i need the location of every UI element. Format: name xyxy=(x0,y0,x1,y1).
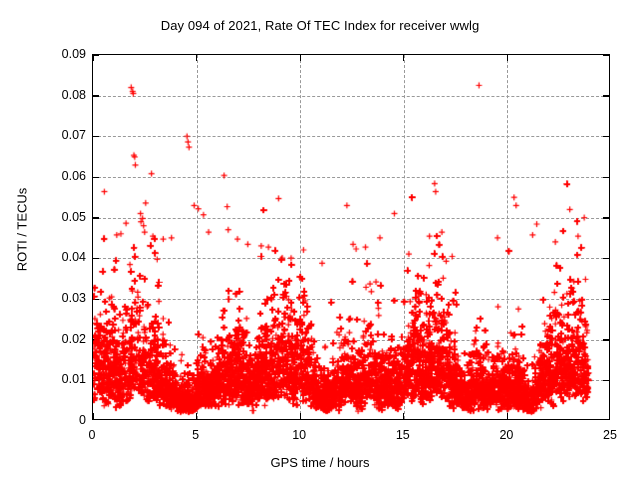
y-axis-tick-labels: 00.010.020.030.040.050.060.070.080.09 xyxy=(0,0,86,480)
y-axis-tick-label: 0.01 xyxy=(62,372,86,386)
y-axis-tick-label: 0.09 xyxy=(62,47,86,61)
x-axis-tick-label: 20 xyxy=(499,428,513,442)
x-axis-tick-label: 10 xyxy=(292,428,306,442)
page-title: Day 094 of 2021, Rate Of TEC Index for r… xyxy=(0,18,640,33)
y-axis-tick-label: 0 xyxy=(79,413,86,427)
chart-page: Day 094 of 2021, Rate Of TEC Index for r… xyxy=(0,0,640,480)
x-axis-tick-labels: 0510152025 xyxy=(0,428,640,448)
x-axis-tick-label: 15 xyxy=(396,428,410,442)
y-axis-tick-label: 0.04 xyxy=(62,250,86,264)
scatter-data-points xyxy=(93,55,609,419)
x-axis-tick-label: 0 xyxy=(89,428,96,442)
y-axis-tick-label: 0.02 xyxy=(62,332,86,346)
x-axis-tick-label: 25 xyxy=(603,428,617,442)
y-axis-tick-label: 0.07 xyxy=(62,128,86,142)
y-axis-tick-label: 0.03 xyxy=(62,291,86,305)
y-axis-tick-label: 0.05 xyxy=(62,210,86,224)
x-axis-tick-label: 5 xyxy=(192,428,199,442)
y-axis-tick-label: 0.06 xyxy=(62,169,86,183)
plot-area xyxy=(92,54,610,420)
y-axis-tick-label: 0.08 xyxy=(62,88,86,102)
x-axis-label: GPS time / hours xyxy=(0,455,640,470)
y-axis-label: ROTI / TECUs xyxy=(15,160,30,300)
